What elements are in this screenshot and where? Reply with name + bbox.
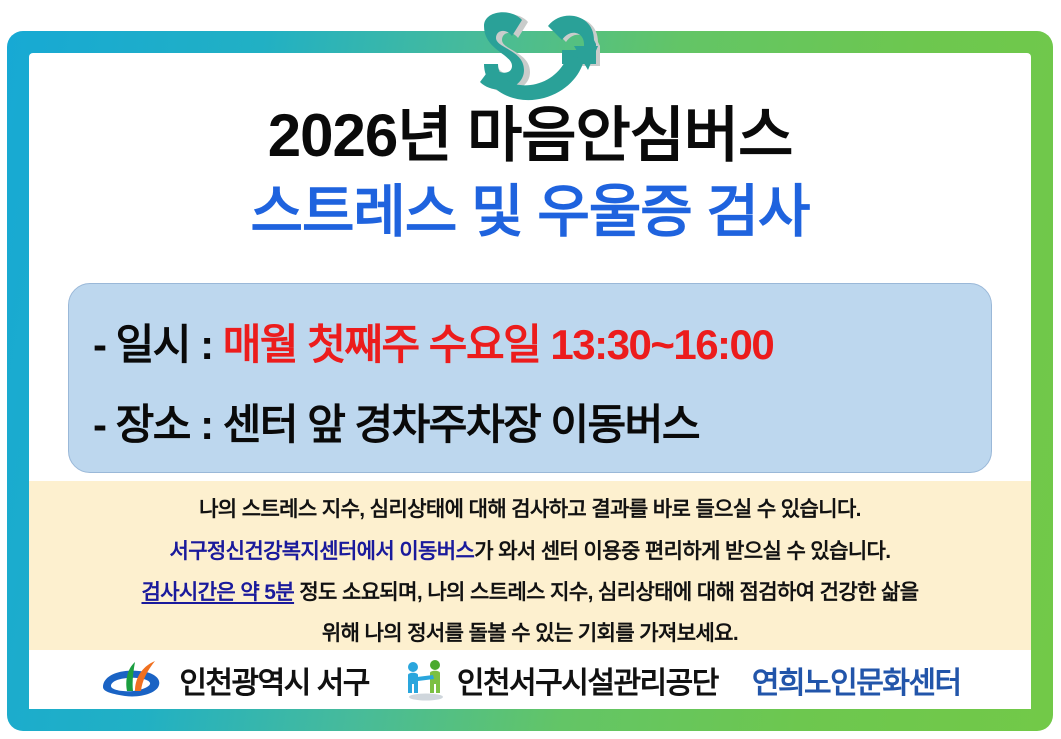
description-line-4: 위해 나의 정서를 돌볼 수 있는 기회를 가져보세요.	[29, 617, 1031, 647]
description-line-3: 검사시간은 약 5분 정도 소요되며, 나의 스트레스 지수, 심리상태에 대해…	[29, 576, 1031, 606]
logo-label-incheon-seogu: 인천광역시 서구	[179, 658, 369, 702]
facilities-corporation-people-icon	[403, 657, 449, 703]
logo-yeonhui-senior-center: 연희노인문화센터	[752, 658, 961, 702]
description-line-2: 서구정신건강복지센터에서 이동버스가 와서 센터 이용중 편리하게 받으실 수 …	[29, 535, 1031, 565]
poster-canvas: 2026년 마음안심버스 스트레스 및 우울증 검사 - 일시 : 매월 첫째주…	[0, 0, 1061, 739]
description-line-2-accent: 서구정신건강복지센터에서 이동버스	[169, 540, 474, 563]
description-line-3-accent: 검사시간은 약 5분	[141, 581, 294, 604]
schedule-info-box: - 일시 : 매월 첫째주 수요일 13:30~16:00 - 장소 : 센터 …	[68, 283, 992, 473]
footer-logo-bar: 인천광역시 서구 인천서구시설관리공단 연희노인문화센터	[29, 650, 1031, 709]
info-row-datetime: - 일시 : 매월 첫째주 수요일 13:30~16:00	[93, 311, 773, 372]
logo-facilities-corporation: 인천서구시설관리공단	[403, 657, 718, 703]
info-label-location: - 장소 :	[93, 401, 223, 448]
info-value-datetime: 매월 첫째주 수요일 13:30~16:00	[223, 321, 774, 368]
page-subtitle: 스트레스 및 우울증 검사	[29, 184, 1031, 241]
sg-logo-icon	[448, 2, 618, 114]
logo-incheon-seogu: 인천광역시 서구	[99, 657, 369, 703]
info-label-datetime: - 일시 :	[93, 321, 223, 368]
logo-label-yeonhui-senior-center: 연희노인문화센터	[752, 658, 961, 702]
info-value-location: 센터 앞 경차주차장 이동버스	[223, 401, 699, 448]
description-band: 나의 스트레스 지수, 심리상태에 대해 검사하고 결과를 바로 들으실 수 있…	[29, 481, 1031, 650]
info-row-location: - 장소 : 센터 앞 경차주차장 이동버스	[93, 391, 699, 452]
page-title: 2026년 마음안심버스	[29, 106, 1031, 166]
description-line-3-rest: 정도 소요되며, 나의 스트레스 지수, 심리상태에 대해 점검하여 건강한 삶…	[294, 581, 918, 604]
logo-label-facilities-corporation: 인천서구시설관리공단	[457, 658, 718, 702]
description-line-2-rest: 가 와서 센터 이용중 편리하게 받으실 수 있습니다.	[474, 540, 890, 563]
description-line-1: 나의 스트레스 지수, 심리상태에 대해 검사하고 결과를 바로 들으실 수 있…	[29, 493, 1031, 523]
incheon-seogu-emblem-icon	[99, 657, 171, 703]
